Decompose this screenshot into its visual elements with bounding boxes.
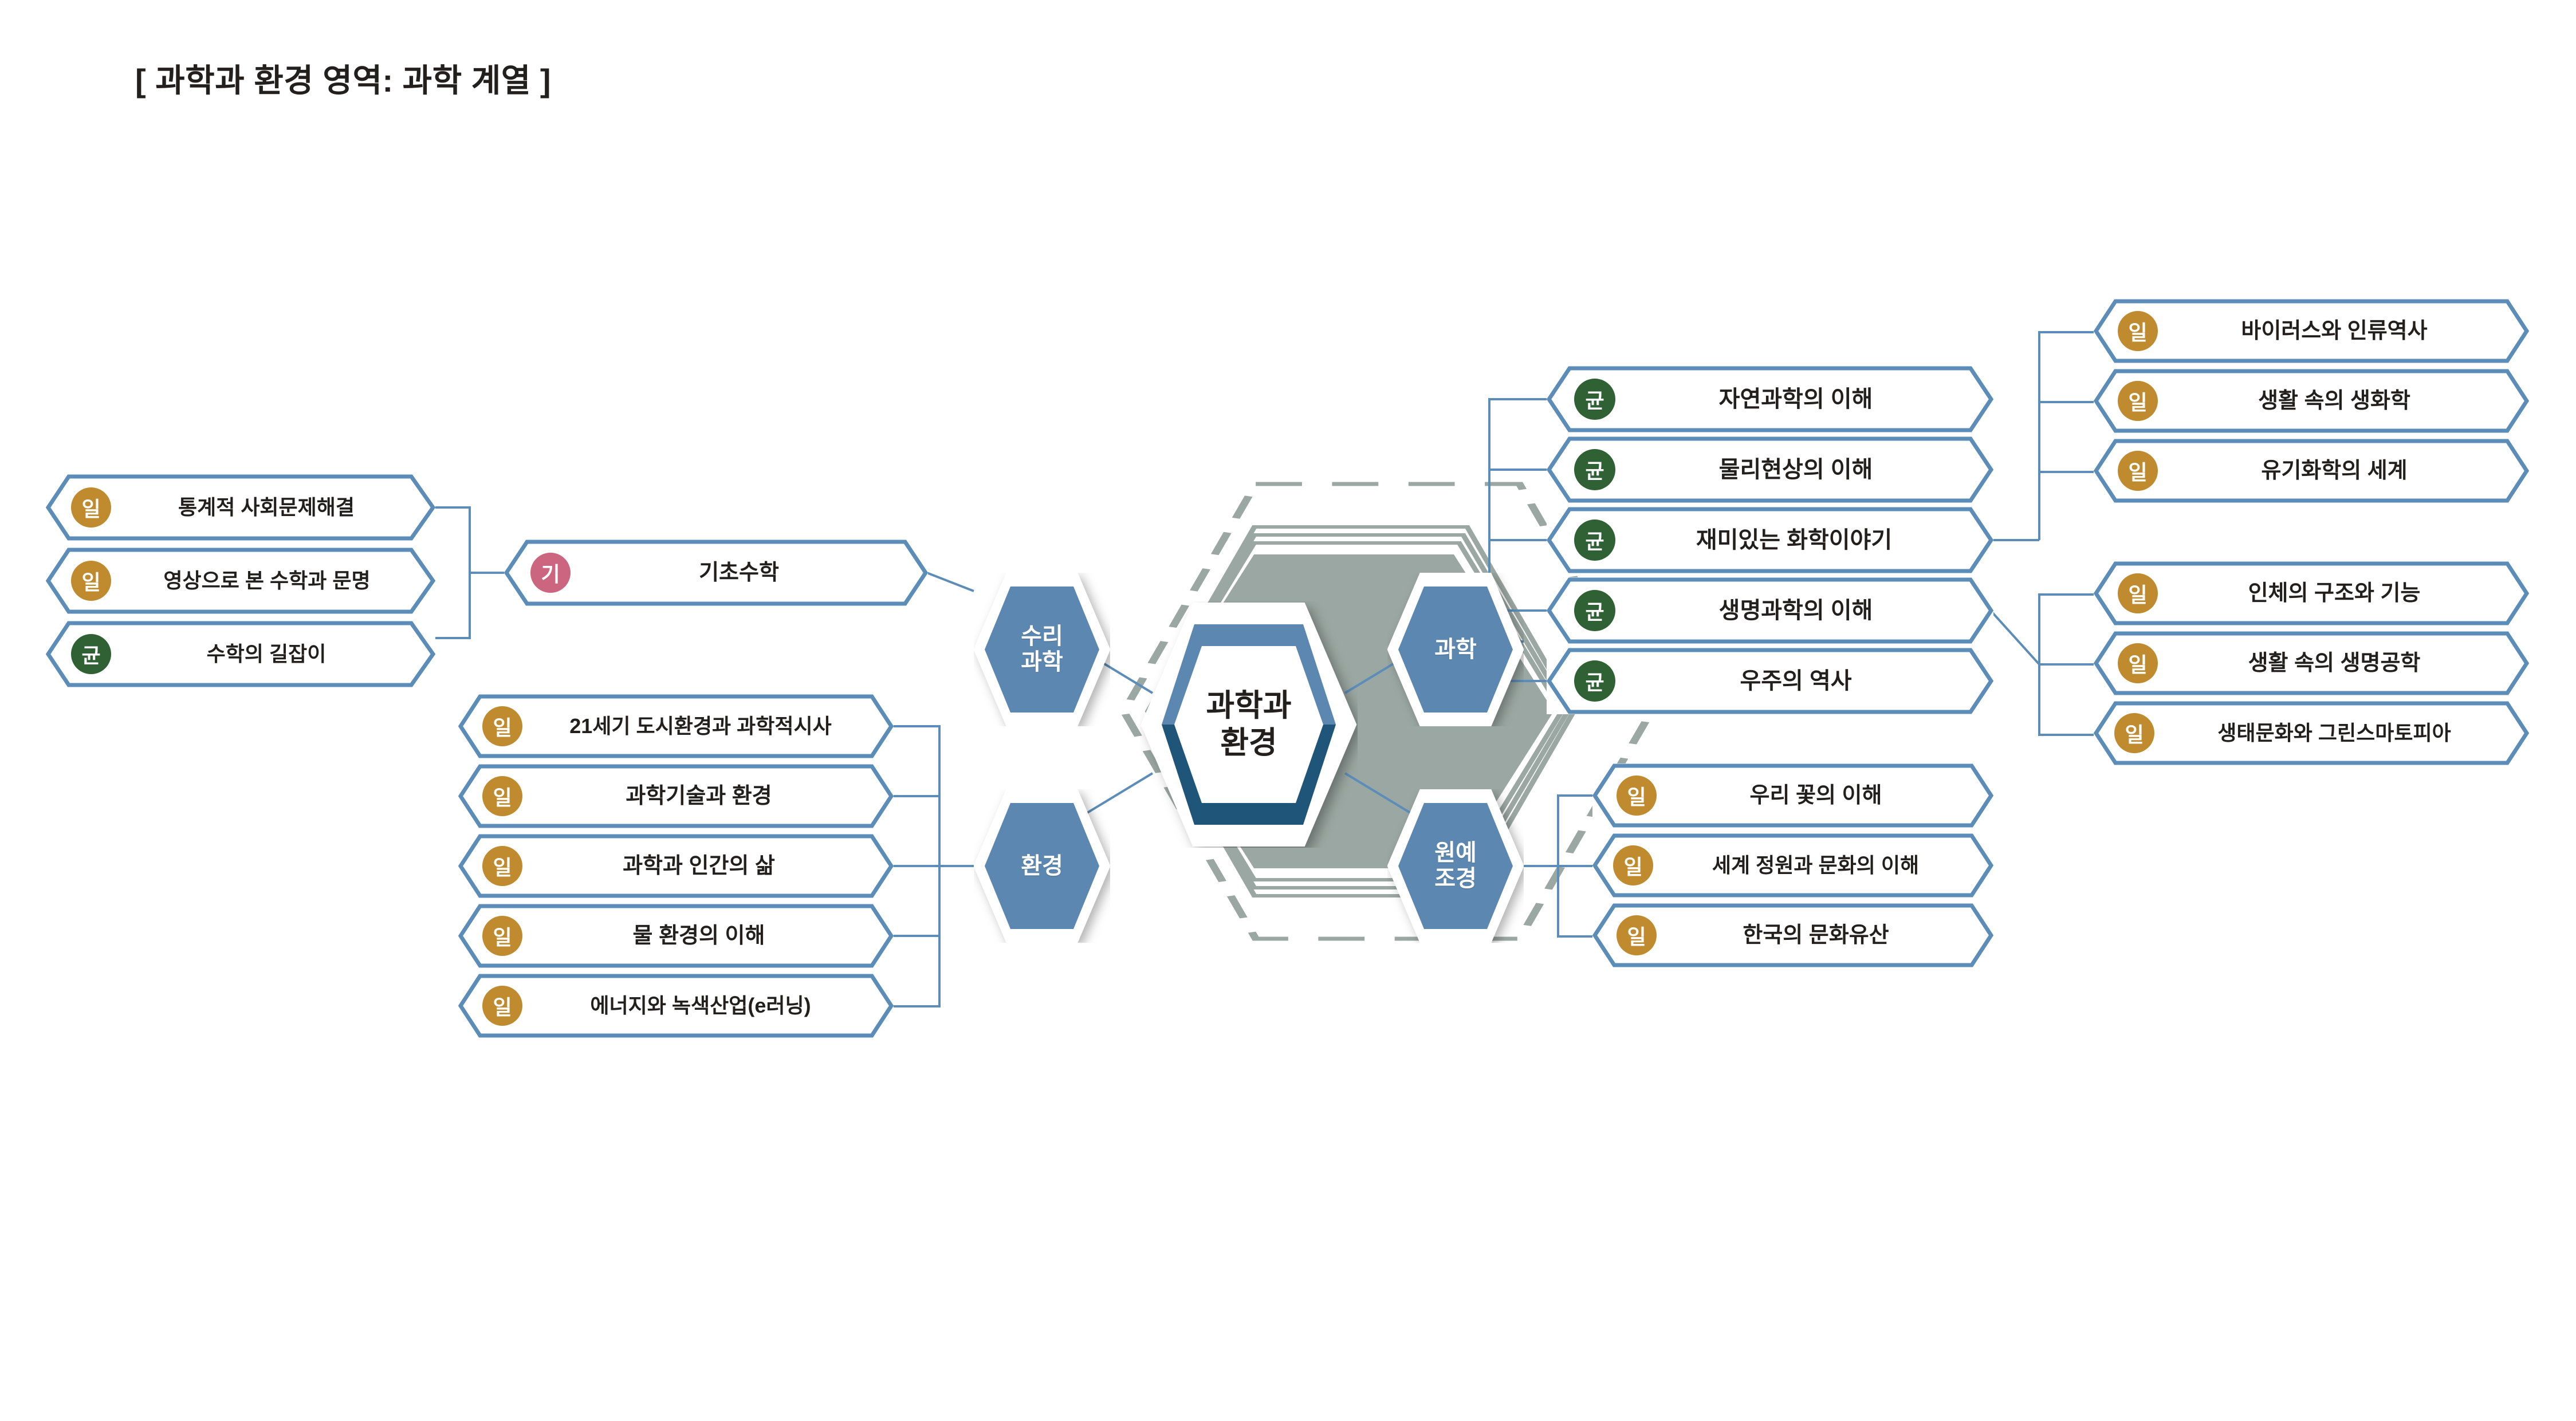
course-pill-label: 기초수학 xyxy=(579,540,899,606)
course-pill[interactable]: 일 생활 속의 생화학 xyxy=(2094,369,2529,433)
course-pill[interactable]: 일 세계 정원과 문화의 이해 xyxy=(1592,833,1993,898)
course-pill[interactable]: 균 재미있는 화학이야기 xyxy=(1547,507,1993,573)
course-pill-label: 생활 속의 생화학 xyxy=(2165,369,2503,433)
badge-il: 일 xyxy=(482,776,522,816)
course-pill[interactable]: 일 과학기술과 환경 xyxy=(458,764,894,828)
badge-il: 일 xyxy=(1613,845,1653,885)
branch-label-line: 조경 xyxy=(1434,866,1477,892)
course-pill-label: 과학기술과 환경 xyxy=(530,764,868,828)
branch-label-line: 과학 xyxy=(1021,650,1063,675)
course-pill-label: 에너지와 녹색산업(e러닝) xyxy=(526,974,875,1038)
branch-label-line: 원예 xyxy=(1434,840,1477,866)
badge-text: 균 xyxy=(1585,525,1604,555)
badge-text: 일 xyxy=(1623,851,1642,880)
badge-text: 기 xyxy=(541,558,560,588)
badge-gyun: 균 xyxy=(1574,519,1615,561)
course-pill-label: 과학과 인간의 삶 xyxy=(530,834,868,898)
branch-node-suri-label: 수리 과학 xyxy=(974,573,1110,726)
course-pill[interactable]: 일 바이러스와 인류역사 xyxy=(2094,299,2529,363)
course-pill-label: 재미있는 화학이야기 xyxy=(1622,507,1966,573)
course-pill[interactable]: 일 우리 꽃의 이해 xyxy=(1592,763,1993,828)
course-pill-label: 물 환경의 이해 xyxy=(530,904,868,968)
badge-gi: 기 xyxy=(530,553,571,593)
course-pill[interactable]: 균 우주의 역사 xyxy=(1547,648,1993,714)
center-node: 과학과 환경 xyxy=(1140,601,1358,848)
branch-node-hwangyeong-label: 환경 xyxy=(974,789,1110,943)
badge-il: 일 xyxy=(482,916,522,956)
course-pill[interactable]: 일 유기화학의 세계 xyxy=(2094,439,2529,503)
badge-il: 일 xyxy=(2114,713,2154,753)
badge-gyun: 균 xyxy=(1574,660,1615,702)
course-pill[interactable]: 균 생명과학의 이해 xyxy=(1547,577,1993,644)
course-pill-label: 통계적 사회문제해결 xyxy=(120,474,412,541)
branch-node-wonye-label: 원예 조경 xyxy=(1387,789,1524,943)
center-node-label: 과학과 환경 xyxy=(1140,601,1358,848)
course-pill-label: 21세기 도시환경과 과학적시사 xyxy=(526,694,875,758)
badge-gyun: 균 xyxy=(1574,590,1615,631)
course-pill[interactable]: 일 영상으로 본 수학과 문명 xyxy=(46,548,435,614)
badge-gyun: 균 xyxy=(1574,449,1615,490)
badge-gyun: 균 xyxy=(1574,379,1615,420)
badge-il: 일 xyxy=(2118,573,2158,613)
course-pill[interactable]: 일 생태문화와 그린스마토피아 xyxy=(2094,701,2529,765)
badge-il: 일 xyxy=(2118,381,2158,421)
badge-gyun: 균 xyxy=(71,634,111,674)
branch-label-line: 환경 xyxy=(1021,853,1063,879)
center-line-2: 환경 xyxy=(1220,725,1277,762)
course-pill-label: 생태문화와 그린스마토피아 xyxy=(2157,701,2512,765)
badge-text: 균 xyxy=(1585,596,1604,625)
page-title: [ 과학과 환경 영역: 과학 계열 ] xyxy=(135,55,551,101)
badge-text: 일 xyxy=(493,991,512,1021)
course-pill-label: 우주의 역사 xyxy=(1627,648,1965,714)
badge-text: 일 xyxy=(81,493,100,522)
badge-text: 일 xyxy=(2128,456,2147,486)
diagram-canvas: [ 과학과 환경 영역: 과학 계열 ] xyxy=(0,0,2576,1421)
course-pill[interactable]: 일 한국의 문화유산 xyxy=(1592,903,1993,967)
badge-il: 일 xyxy=(482,706,522,746)
badge-text: 일 xyxy=(2128,648,2147,678)
course-pill-gicho-suhak[interactable]: 기 기초수학 xyxy=(504,540,928,606)
course-pill[interactable]: 일 에너지와 녹색산업(e러닝) xyxy=(458,974,894,1038)
course-pill[interactable]: 일 인체의 구조와 기능 xyxy=(2094,561,2529,625)
badge-il: 일 xyxy=(2118,451,2158,491)
course-pill-label: 유기화학의 세계 xyxy=(2165,439,2503,503)
branch-node-gwahak-label: 과학 xyxy=(1387,573,1524,726)
badge-text: 일 xyxy=(493,921,512,951)
badge-text: 균 xyxy=(81,639,100,669)
badge-il: 일 xyxy=(2118,311,2158,351)
badge-il: 일 xyxy=(71,487,111,528)
badge-text: 균 xyxy=(1585,666,1604,696)
badge-text: 일 xyxy=(2128,386,2147,416)
badge-text: 일 xyxy=(1627,781,1646,810)
course-pill-label: 세계 정원과 문화의 이해 xyxy=(1657,833,1975,898)
badge-text: 일 xyxy=(493,851,512,881)
badge-il: 일 xyxy=(71,561,111,601)
badge-il: 일 xyxy=(482,846,522,886)
course-pill-label: 바이러스와 인류역사 xyxy=(2165,299,2503,363)
course-pill-label: 영상으로 본 수학과 문명 xyxy=(118,548,416,614)
badge-text: 일 xyxy=(493,781,512,811)
badge-text: 균 xyxy=(1585,384,1604,414)
course-pill[interactable]: 일 통계적 사회문제해결 xyxy=(46,474,435,541)
course-pill-label: 생명과학의 이해 xyxy=(1627,577,1965,644)
course-pill-label: 생활 속의 생명공학 xyxy=(2165,631,2503,695)
badge-text: 일 xyxy=(493,711,512,741)
branch-label-line: 과학 xyxy=(1434,637,1477,663)
branch-node-gwahak[interactable]: 과학 xyxy=(1387,573,1524,726)
badge-text: 일 xyxy=(81,566,100,596)
badge-il: 일 xyxy=(2118,643,2158,683)
branch-node-suri[interactable]: 수리 과학 xyxy=(974,573,1110,726)
course-pill[interactable]: 일 물 환경의 이해 xyxy=(458,904,894,968)
course-pill[interactable]: 균 자연과학의 이해 xyxy=(1547,366,1993,432)
course-pill-label: 수학의 길잡이 xyxy=(120,621,412,687)
badge-text: 일 xyxy=(2125,718,2144,748)
course-pill-label: 인체의 구조와 기능 xyxy=(2165,561,2503,625)
badge-text: 균 xyxy=(1585,455,1604,485)
badge-text: 일 xyxy=(1627,920,1646,950)
branch-node-wonye[interactable]: 원예 조경 xyxy=(1387,789,1524,943)
course-pill-label: 우리 꽃의 이해 xyxy=(1664,763,1968,828)
badge-il: 일 xyxy=(1617,776,1657,816)
badge-text: 일 xyxy=(2128,316,2147,346)
course-pill[interactable]: 일 과학과 인간의 삶 xyxy=(458,834,894,898)
course-pill-label: 한국의 문화유산 xyxy=(1664,903,1968,967)
badge-il: 일 xyxy=(1617,915,1657,955)
course-pill[interactable]: 균 물리현상의 이해 xyxy=(1547,436,1993,503)
course-pill[interactable]: 일 21세기 도시환경과 과학적시사 xyxy=(458,694,894,758)
course-pill-label: 물리현상의 이해 xyxy=(1627,436,1965,503)
branch-label-line: 수리 xyxy=(1021,624,1063,650)
badge-il: 일 xyxy=(482,986,522,1026)
branch-node-hwangyeong[interactable]: 환경 xyxy=(974,789,1110,943)
course-pill-label: 자연과학의 이해 xyxy=(1627,366,1965,432)
course-pill[interactable]: 균 수학의 길잡이 xyxy=(46,621,435,687)
course-pill[interactable]: 일 생활 속의 생명공학 xyxy=(2094,631,2529,695)
center-line-1: 과학과 xyxy=(1206,687,1291,725)
badge-text: 일 xyxy=(2128,578,2147,608)
